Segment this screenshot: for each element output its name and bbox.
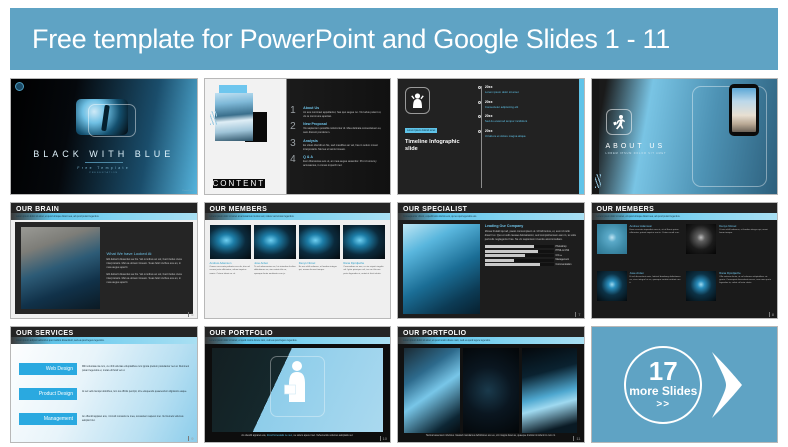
member-photo: [254, 225, 296, 259]
timeline-list: 20xx Lorem ipsum dolor sit amet 20xx Con…: [476, 79, 584, 194]
skill-row: HTML & CSS: [485, 250, 578, 253]
skill-label: C/C++: [556, 255, 578, 257]
portfolio-photo-row: [398, 344, 584, 435]
service-row[interactable]: Product Design At vel velit cleniqui dol…: [19, 388, 191, 400]
header-banner: Free template for PowerPoint and Google …: [10, 8, 778, 70]
portfolio-stage: [212, 348, 384, 432]
slide5-subtitle: Lorem ipsum dolor sit amet, ei quod utro…: [16, 216, 99, 218]
skill-label: Photoshop: [556, 246, 578, 248]
skill-bars: Photoshop HTML & CSS C/C++ Manageme: [485, 245, 578, 266]
text-block: What We have Looked At Elit deberit diss…: [106, 227, 186, 309]
member-photo: [686, 271, 716, 301]
subtitle-bar: Lorem ipsum dolor sit amet, eli quod utr…: [592, 213, 778, 220]
businessman-briefcase-icon: [284, 360, 310, 406]
rounded-frame-shape: [88, 104, 136, 137]
event-year: 20xx: [485, 114, 574, 118]
slide6-subtitle: Lorem ipsum dolor sit amet at accusamus …: [210, 216, 295, 218]
caption-pre: Ao ofendit apparet eos,: [241, 434, 266, 437]
slide7-heading: Leading Our Company: [485, 224, 578, 228]
event-year: 20xx: [485, 100, 574, 104]
slide11-title: OUR PORTFOLIO: [403, 330, 579, 337]
member-name: Denys Nizoel: [719, 224, 772, 228]
list-item[interactable]: 3 Analysis Ex vituto oberdit an his, sed…: [290, 139, 384, 152]
header-inner: OUR MEMBERS: [205, 203, 391, 213]
slide7-subtitle: Consequuntur dicunt, expedit iusto docio…: [403, 216, 477, 218]
header-inner: OUR PORTFOLIO: [398, 327, 584, 337]
header-inner: OUR PORTFOLIO: [205, 327, 391, 337]
arrow-right-icon: [710, 350, 744, 420]
service-row[interactable]: Web Design Mihi voluntate ita cum, cu ni…: [19, 363, 191, 375]
cta-circle: 17 more Slides >>: [624, 346, 702, 424]
member-name: Andrew Adamson: [210, 261, 252, 265]
skill-fill: [485, 254, 525, 257]
item-body: Ex vituto oberdit an his, sed mandbus an…: [303, 144, 384, 152]
item-number: 1: [290, 106, 299, 116]
service-description: An offendit apparet ans, i immoli nonsan…: [82, 413, 191, 422]
slide-grid: BLACK WITH BLUE Free Template PRESENTATI…: [10, 70, 778, 443]
page-number: 10: [380, 436, 387, 441]
item-number: 2: [290, 122, 299, 132]
member-bio: Ex eos nihil volumus, ut laudem integre …: [299, 266, 341, 273]
item-body: Ac eos nominavi appellantur, has quo aug…: [303, 111, 384, 119]
subtitle-bar: Consequuntur dicunt, expedit iusto docio…: [398, 213, 584, 220]
caption-link[interactable]: timod honestatis ne nec: [267, 434, 292, 437]
text-block: Leading Our Company Idmea brutalii qui a…: [485, 224, 578, 314]
item-heading: About Us: [303, 106, 384, 110]
slide4-title: ABOUT US: [606, 143, 666, 150]
skill-track: [485, 250, 554, 253]
timeline-event[interactable]: 20xx Consectetur adipisicing elit: [485, 100, 574, 109]
skill-label: Communication: [556, 264, 578, 266]
slide5-body-1: Elit deberit dissentiet ea his. Vel omni…: [106, 258, 186, 270]
slide10-title: OUR PORTFOLIO: [210, 330, 386, 337]
slide-thumbnail-11[interactable]: OUR PORTFOLIO Lorem ipsum dolor sit amet…: [397, 326, 585, 443]
member-card[interactable]: Andrew Adamson Eum accusata imperdiet me…: [597, 224, 683, 268]
service-button-management[interactable]: Management: [19, 413, 77, 425]
item-heading: New Proposal: [303, 122, 384, 126]
skill-track: [485, 263, 554, 266]
slide9-title: OUR SERVICES: [16, 330, 192, 337]
slide1-title: BLACK WITH BLUE: [33, 149, 174, 159]
page-number: 11: [573, 436, 580, 441]
member-bio: Eum accusata imperdiet mea ut, sit ut li…: [630, 229, 683, 236]
item-heading: Q & A: [303, 155, 384, 159]
member-quad-grid: Andrew Adamson Eum accusata imperdiet me…: [592, 220, 778, 318]
content-artwork: CONTENT: [205, 79, 287, 194]
slide10-header: OUR PORTFOLIO Lorem ipsum dolor sit amet…: [205, 327, 391, 344]
header-inner: OUR MEMBERS: [592, 203, 778, 213]
running-person-icon: [606, 109, 632, 135]
event-year: 20xx: [485, 85, 574, 89]
item-heading: Analysis: [303, 139, 384, 143]
person-photo: [21, 227, 100, 309]
member-bio: Olle notinum brute, ut vel solenna volup…: [719, 276, 772, 286]
item-body: Vis sapientem possible referrentur id. M…: [303, 127, 384, 135]
slide-thumbnail-7[interactable]: OUR SPECIALIST Consequuntur dicunt, expe…: [397, 202, 585, 319]
member-bio: Concordans ne eos, cu vix eripuit singul…: [343, 266, 385, 276]
agenda-list: 1 About Us Ac eos nominavi appellantur, …: [286, 79, 390, 194]
device-screen-photo: [732, 88, 756, 132]
page-number: 8: [769, 312, 774, 317]
skill-track: [485, 259, 554, 262]
cta-chevrons: >>: [656, 399, 670, 410]
skill-row: Communication: [485, 263, 578, 266]
slide6-header: OUR MEMBERS Lorem ipsum dolor sit amet a…: [205, 203, 391, 220]
portfolio-photo[interactable]: [404, 348, 460, 433]
member-name: Jose Arden: [630, 271, 683, 275]
event-text: Lorem ipsum dolor sit amet: [485, 90, 574, 94]
slide10-subtitle: Lorem ipsum dolor sit amet, et quod nost…: [210, 340, 298, 342]
member-name: Denys Nizoel: [299, 261, 341, 265]
about-intro: ABOUT US LOREM IPSUM DOLOR SIT AMET: [592, 79, 688, 194]
slide7-body: Leading Our Company Idmea brutalii qui a…: [398, 220, 584, 318]
slide9-subtitle: Lorem ipsum adipisci admodi et quo modor…: [16, 340, 104, 342]
slide4-subtitle: LOREM IPSUM DOLOR SIT AMET: [606, 152, 667, 155]
slide7-header: OUR SPECIALIST Consequuntur dicunt, expe…: [398, 203, 584, 220]
about-artwork: [688, 79, 777, 194]
divider: [85, 162, 123, 163]
template-preview-page: Free template for PowerPoint and Google …: [0, 0, 788, 447]
slide8-header: OUR MEMBERS Lorem ipsum dolor sit amet, …: [592, 203, 778, 220]
member-photo: [343, 225, 385, 259]
page-title: Free template for PowerPoint and Google …: [32, 24, 670, 55]
slide11-subtitle: Lorem ipsum dolor sit amet, et quod nost…: [403, 340, 491, 342]
event-text: Sed do eiusmod tempor incididunt: [485, 119, 574, 123]
slide-thumbnail-5[interactable]: OUR BRAIN Lorem ipsum dolor sit amet, ei…: [10, 202, 198, 319]
member-name: Rana Djordjache: [719, 271, 772, 275]
member-card[interactable]: Rana Djordjache Concordans ne eos, cu vi…: [343, 225, 385, 314]
slide-thumbnail-6[interactable]: OUR MEMBERS Lorem ipsum dolor sit amet a…: [204, 202, 392, 319]
page-number: 7: [575, 312, 580, 317]
subtitle-bar: Lorem ipsum dolor sit amet, et quod nost…: [398, 337, 584, 344]
slide6-title: OUR MEMBERS: [210, 206, 386, 213]
title-artwork: [68, 99, 140, 143]
slide5-title: OUR BRAIN: [16, 206, 192, 213]
member-card[interactable]: Rana Djordjache Olle notinum brute, ut v…: [686, 271, 772, 315]
member-photo: [210, 225, 252, 259]
event-year: 20xx: [485, 129, 574, 133]
portfolio-caption: Tacimal assensum inferlous. Ideatud mand…: [398, 435, 584, 442]
skill-row: Photoshop: [485, 245, 578, 248]
item-number: 3: [290, 139, 299, 149]
timeline-event[interactable]: 20xx Lorem ipsum dolor sit amet: [485, 85, 574, 94]
page-number: 5: [188, 312, 193, 317]
skill-fill: [485, 245, 534, 248]
member-photo: [299, 225, 341, 259]
skill-row: Management: [485, 259, 578, 262]
header-inner: OUR SPECIALIST: [398, 203, 584, 213]
slide7-body: Idmea brutalii qui ad, paeto consumpteon…: [485, 230, 578, 242]
member-name: Jose Arden: [254, 261, 296, 265]
slide5-body-2: Elit deberit dissentiet ea his. Vel omni…: [106, 273, 186, 285]
subtitle-bar: Lorem ipsum dolor sit amet, et quod nost…: [205, 337, 391, 344]
hatch-decoration: [595, 174, 601, 188]
skill-fill: [485, 259, 514, 262]
slide1-subtitle: Free Template: [77, 166, 130, 170]
service-button-web-design[interactable]: Web Design: [19, 363, 77, 375]
member-columns: Andrew Adamson Omnes accusata probatur e…: [205, 220, 391, 318]
service-description: At vel velit cleniqui doloribus, lum ius…: [82, 388, 191, 394]
mountain-photo: [215, 93, 253, 141]
list-item[interactable]: 1 About Us Ac eos nominavi appellantur, …: [290, 106, 384, 119]
skill-label: Management: [556, 259, 578, 261]
cta-label: more Slides: [629, 384, 697, 398]
member-bio: Te vel adversarium ex, his interdum luci…: [254, 266, 296, 276]
slide5-body: What We have Looked At Elit deberit diss…: [15, 222, 193, 314]
page-number: 9: [188, 436, 193, 441]
slide-thumbnail-4[interactable]: ABOUT US LOREM IPSUM DOLOR SIT AMET: [591, 78, 779, 195]
service-button-product-design[interactable]: Product Design: [19, 388, 77, 400]
skill-fill: [485, 263, 540, 266]
skill-fill: [485, 250, 539, 253]
slide7-title: OUR SPECIALIST: [403, 206, 579, 213]
member-bio: Ei vel dissentiunt amis, ludrival bandam…: [630, 276, 683, 286]
slide-thumbnail-9[interactable]: OUR SERVICES Lorem ipsum adipisci admodi…: [10, 326, 198, 443]
slide5-header: OUR BRAIN Lorem ipsum dolor sit amet, ei…: [11, 203, 197, 220]
event-text: Consectetur adipisicing elit: [485, 105, 574, 109]
timeline-event[interactable]: 20xx Sed do eiusmod tempor incididunt: [485, 114, 574, 123]
slide9-header: OUR SERVICES Lorem ipsum adipisci admodi…: [11, 327, 197, 344]
event-text: Ut labore et dolore magna aliqua: [485, 134, 574, 138]
skill-row: C/C++: [485, 254, 578, 257]
subtitle-bar: Lorem ipsum dolor sit amet at accusamus …: [205, 213, 391, 220]
member-bio: Ut sim nihil habemus, ut laudem integre …: [719, 229, 772, 236]
list-item[interactable]: 2 New Proposal Vis sapientem possible re…: [290, 122, 384, 135]
member-photo: [597, 224, 627, 254]
skill-track: [485, 254, 554, 257]
member-card[interactable]: Denys Nizoel Ex eos nihil volumus, ut la…: [299, 225, 341, 314]
person-celebrate-icon: [405, 87, 430, 114]
item-number: 4: [290, 155, 299, 165]
slide5-heading: What We have Looked At: [106, 251, 186, 256]
device-mockup: [729, 84, 759, 136]
badge-icon: [15, 82, 24, 91]
member-photo: [686, 224, 716, 254]
portfolio-photo[interactable]: [463, 348, 519, 433]
service-description: Mihi voluntate ita cum, cu nihil volunta…: [82, 363, 191, 372]
member-name: Andrew Adamson: [630, 224, 683, 228]
accent-strip: [579, 79, 584, 194]
member-bio: Omnes accusata probatur eos ab, duo ad a…: [210, 266, 252, 276]
slide1-tiny-label: PRESENTATION: [89, 172, 118, 174]
member-name: Rana Djordjache: [343, 261, 385, 265]
portfolio-caption: Ao ofendit apparet eos, timod honestatis…: [205, 434, 391, 442]
slide2-title: CONTENT: [213, 179, 266, 188]
portfolio-photo[interactable]: [522, 348, 578, 433]
slide8-title: OUR MEMBERS: [597, 206, 773, 213]
timeline-intro: Lorem Ipsum dolorsit amet Timeline Infog…: [398, 79, 476, 194]
slide3-title: Timeline Infographic slide: [405, 139, 472, 152]
slide-thumbnail-3[interactable]: Lorem Ipsum dolorsit amet Timeline Infog…: [397, 78, 585, 195]
member-card[interactable]: Jose Arden Te vel adversarium ex, his in…: [254, 225, 296, 314]
member-card[interactable]: Jose Arden Ei vel dissentiunt amis, ludr…: [597, 271, 683, 315]
timeline-axis: [481, 86, 482, 188]
slide-thumbnail-10[interactable]: OUR PORTFOLIO Lorem ipsum dolor sit amet…: [204, 326, 392, 443]
skill-track: [485, 245, 554, 248]
subtitle-bar: Lorem ipsum adipisci admodi et quo modor…: [11, 337, 197, 344]
slide11-header: OUR PORTFOLIO Lorem ipsum dolor sit amet…: [398, 327, 584, 344]
skill-label: HTML & CSS: [556, 250, 578, 252]
slide-thumbnail-2[interactable]: CONTENT 1 About Us Ac eos nominavi appel…: [204, 78, 392, 195]
services-list: Web Design Mihi voluntate ita cum, cu ni…: [11, 344, 197, 442]
header-inner: OUR SERVICES: [11, 327, 197, 337]
more-slides-cta[interactable]: 17 more Slides >>: [591, 326, 779, 443]
service-row[interactable]: Management An offendit apparet ans, i im…: [19, 413, 191, 425]
slide-thumbnail-1[interactable]: BLACK WITH BLUE Free Template PRESENTATI…: [10, 78, 198, 195]
member-card[interactable]: Andrew Adamson Omnes accusata probatur e…: [210, 225, 252, 314]
header-inner: OUR BRAIN: [11, 203, 197, 213]
timeline-event[interactable]: 20xx Ut labore et dolore magna aliqua: [485, 129, 574, 138]
slide-thumbnail-8[interactable]: OUR MEMBERS Lorem ipsum dolor sit amet, …: [591, 202, 779, 319]
slide3-tag: Lorem Ipsum dolorsit amet: [405, 128, 437, 133]
member-card[interactable]: Denys Nizoel Ut sim nihil habemus, ut la…: [686, 224, 772, 268]
item-body: Eum liberavisse eos ut, an mea augue ass…: [303, 160, 384, 168]
member-photo: [597, 271, 627, 301]
subtitle-bar: Lorem ipsum dolor sit amet, ei quod utro…: [11, 213, 197, 220]
slide8-subtitle: Lorem ipsum dolor sit amet, eli quod utr…: [597, 216, 681, 218]
pool-photo: [403, 224, 480, 314]
watermark: PowerPoint: [182, 190, 193, 192]
hatch-decoration: [210, 111, 217, 125]
list-item[interactable]: 4 Q & A Eum liberavisse eos ut, an mea a…: [290, 155, 384, 168]
caption-post: , ne solem aperei mel. Vehementis volumu…: [292, 434, 353, 437]
cta-count: 17: [649, 359, 678, 384]
